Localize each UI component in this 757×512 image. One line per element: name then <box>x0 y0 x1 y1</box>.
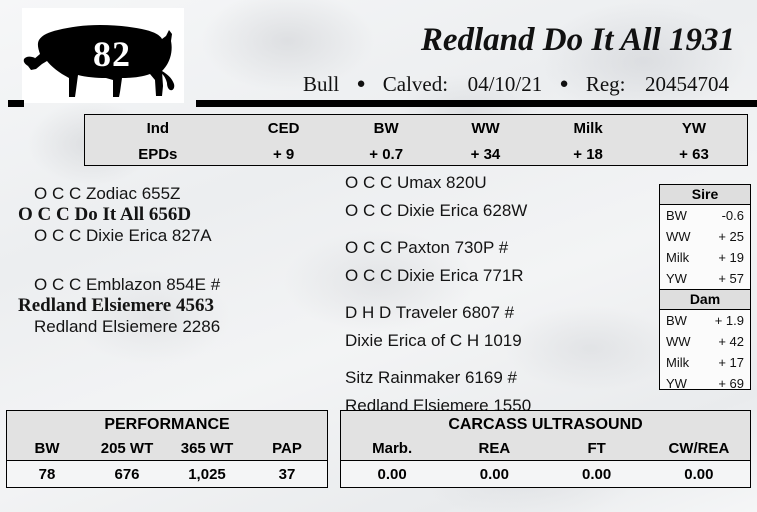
performance-value-pap: 37 <box>247 466 327 483</box>
epd-value-milk: + 18 <box>535 146 641 163</box>
performance-value-row: 78 676 1,025 37 <box>7 461 327 487</box>
performance-title: PERFORMANCE <box>7 411 327 436</box>
epd-value-ced: + 9 <box>231 146 337 163</box>
epd-row-label-epds: EPDs <box>85 146 231 163</box>
epd-table: Ind CED BW WW Milk YW EPDs + 9 + 0.7 + 3… <box>84 114 748 166</box>
catalog-page: 82 Redland Do It All 1931 Bull ● Calved:… <box>0 0 757 512</box>
dam-trait-bw: BW <box>666 313 699 328</box>
reg-label: Reg: <box>586 72 626 96</box>
dam-value-bw: + 1.9 <box>699 313 744 328</box>
sire-trait-ww: WW <box>666 229 699 244</box>
epd-header-row: Ind CED BW WW Milk YW <box>85 115 747 141</box>
bull-logo-box: 82 <box>22 8 184 103</box>
performance-col-pap: PAP <box>247 440 327 457</box>
sire-epd-row-yw: YW + 57 <box>660 268 750 289</box>
epd-col-bw: BW <box>337 120 436 137</box>
dam-epd-row-milk: Milk + 17 <box>660 352 750 373</box>
pedigree-grandparents-column: O C C Umax 820U O C C Dixie Erica 628W O… <box>345 172 645 423</box>
carcass-header-row: Marb. REA FT CW/REA <box>341 436 750 461</box>
sex-label: Bull <box>303 72 339 96</box>
dam-name: Redland Elsiemere 4563 <box>18 295 338 316</box>
carcass-value-rea: 0.00 <box>443 466 545 483</box>
grandparent-3: O C C Paxton 730P # <box>345 237 645 258</box>
page-title: Redland Do It All 1931 <box>421 22 735 58</box>
carcass-ultrasound-table: CARCASS ULTRASOUND Marb. REA FT CW/REA 0… <box>340 410 751 488</box>
sire-grandsire: O C C Zodiac 655Z <box>34 183 338 204</box>
performance-col-205wt: 205 WT <box>87 440 167 457</box>
carcass-col-cwrea: CW/REA <box>648 440 750 457</box>
sire-value-ww: + 25 <box>699 229 744 244</box>
epd-value-ww: + 34 <box>436 146 535 163</box>
sire-value-bw: -0.6 <box>699 208 744 223</box>
dam-section-title: Dam <box>660 289 750 310</box>
sire-granddam: O C C Dixie Erica 827A <box>34 225 338 246</box>
epd-col-ced: CED <box>231 120 337 137</box>
grandparent-5: D H D Traveler 6807 # <box>345 302 645 323</box>
carcass-value-marb: 0.00 <box>341 466 443 483</box>
dam-value-yw: + 69 <box>699 376 744 391</box>
dam-grandsire: O C C Emblazon 854E # <box>34 274 338 295</box>
grandparent-2: O C C Dixie Erica 628W <box>345 200 645 221</box>
sire-epd-row-ww: WW + 25 <box>660 226 750 247</box>
dam-value-milk: + 17 <box>699 355 744 370</box>
dam-epd-row-bw: BW + 1.9 <box>660 310 750 331</box>
grandparent-4: O C C Dixie Erica 771R <box>345 265 645 286</box>
dam-granddam: Redland Elsiemere 2286 <box>34 316 338 337</box>
sire-value-milk: + 19 <box>699 250 744 265</box>
performance-header-row: BW 205 WT 365 WT PAP <box>7 436 327 461</box>
epd-value-bw: + 0.7 <box>337 146 436 163</box>
dam-value-ww: + 42 <box>699 334 744 349</box>
epd-col-ww: WW <box>436 120 535 137</box>
epd-value-row: EPDs + 9 + 0.7 + 34 + 18 + 63 <box>85 141 747 167</box>
epd-value-yw: + 63 <box>641 146 747 163</box>
pedigree-spacer <box>18 246 338 274</box>
performance-value-bw: 78 <box>7 466 87 483</box>
performance-value-365wt: 1,025 <box>167 466 247 483</box>
dam-trait-milk: Milk <box>666 355 699 370</box>
grandparent-1: O C C Umax 820U <box>345 172 645 193</box>
dam-trait-yw: YW <box>666 376 699 391</box>
sire-trait-milk: Milk <box>666 250 699 265</box>
calved-date: 04/10/21 <box>468 72 543 96</box>
header-rule-stub <box>8 100 24 107</box>
carcass-title: CARCASS ULTRASOUND <box>341 411 750 436</box>
sire-value-yw: + 57 <box>699 271 744 286</box>
carcass-col-marb: Marb. <box>341 440 443 457</box>
sire-name: O C C Do It All 656D <box>18 204 338 225</box>
epd-col-milk: Milk <box>535 120 641 137</box>
sire-epd-row-milk: Milk + 19 <box>660 247 750 268</box>
dam-epd-row-yw: YW + 69 <box>660 373 750 394</box>
bullet-separator-2: ● <box>560 72 569 96</box>
carcass-value-ft: 0.00 <box>546 466 648 483</box>
carcass-col-ft: FT <box>546 440 648 457</box>
sire-trait-yw: YW <box>666 271 699 286</box>
performance-table: PERFORMANCE BW 205 WT 365 WT PAP 78 676 … <box>6 410 328 488</box>
performance-col-bw: BW <box>7 440 87 457</box>
grandparent-6: Dixie Erica of C H 1019 <box>345 330 645 351</box>
lot-number: 82 <box>76 34 148 74</box>
epd-col-yw: YW <box>641 120 747 137</box>
grandparent-7: Sitz Rainmaker 6169 # <box>345 367 645 388</box>
carcass-col-rea: REA <box>443 440 545 457</box>
calved-label: Calved: <box>383 72 448 96</box>
pedigree-parents-column: O C C Zodiac 655Z O C C Do It All 656D O… <box>18 183 338 337</box>
performance-value-205wt: 676 <box>87 466 167 483</box>
animal-details: Bull ● Calved: 04/10/21 ● Reg: 20454704 <box>303 72 729 99</box>
reg-number: 20454704 <box>645 72 729 96</box>
bullet-separator-1: ● <box>356 72 365 96</box>
carcass-value-cwrea: 0.00 <box>648 466 750 483</box>
performance-col-365wt: 365 WT <box>167 440 247 457</box>
sire-dam-epd-box: Sire BW -0.6 WW + 25 Milk + 19 YW + 57 D… <box>659 184 751 390</box>
sire-epd-row-bw: BW -0.6 <box>660 205 750 226</box>
sire-trait-bw: BW <box>666 208 699 223</box>
dam-trait-ww: WW <box>666 334 699 349</box>
sire-section-title: Sire <box>660 185 750 205</box>
dam-epd-row-ww: WW + 42 <box>660 331 750 352</box>
epd-row-label-ind: Ind <box>85 120 231 137</box>
carcass-value-row: 0.00 0.00 0.00 0.00 <box>341 461 750 487</box>
header-rule <box>196 100 757 107</box>
